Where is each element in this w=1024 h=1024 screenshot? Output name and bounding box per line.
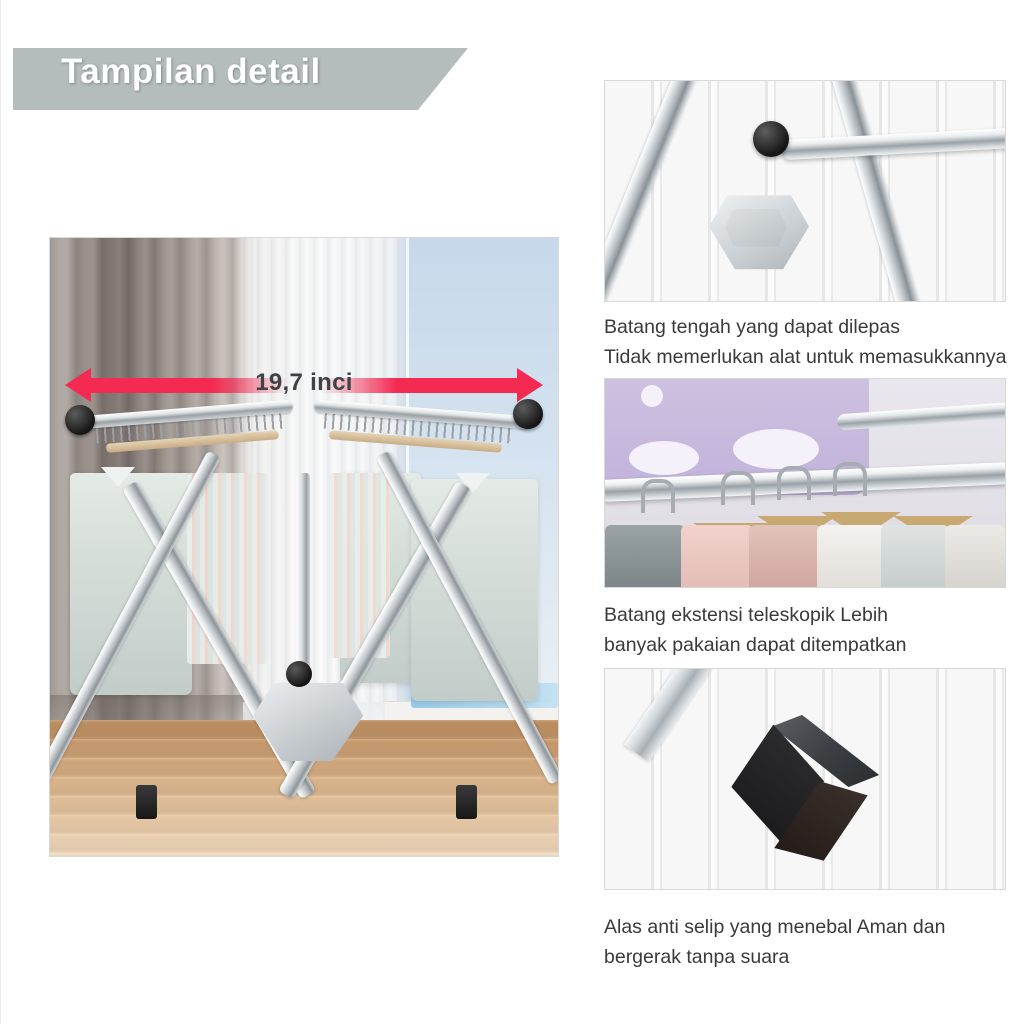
main-product-photo: 19,7 inci (49, 237, 559, 857)
joint-hub-inner (725, 209, 787, 247)
room-scene: 19,7 inci (50, 238, 558, 856)
page-title: Tampilan detail (61, 52, 321, 92)
garment-shirt-right (411, 479, 538, 701)
garment-stack-left (187, 473, 268, 665)
hanger-hook-icon (721, 471, 755, 505)
rail-end-cap-left (65, 405, 95, 435)
caption-telescopic-bar: Batang ekstensi teleskopik Lebih banyak … (604, 600, 1004, 660)
caption-line: Tidak memerlukan alat untuk memasukkanny… (604, 342, 1004, 372)
caption-line: Alas anti selip yang menebal Aman dan (604, 912, 1004, 942)
width-measurement-annotation: 19,7 inci (65, 365, 543, 405)
hanger-hook-icon (641, 479, 675, 513)
caption-line: bergerak tanpa suara (604, 942, 1004, 972)
cloud-pattern-icon (733, 429, 819, 469)
detail-photo-center-bar (604, 80, 1006, 302)
garment-pink (681, 525, 753, 587)
caption-line: Batang tengah yang dapat dilepas (604, 312, 1004, 342)
bar-end-cap-icon (753, 121, 789, 157)
hanger-hook-icon (833, 462, 867, 496)
rack-foot-left (136, 785, 157, 819)
rack-foot-right (456, 785, 477, 819)
measurement-label: 19,7 inci (65, 369, 543, 397)
caption-center-bar: Batang tengah yang dapat dilepas Tidak m… (604, 312, 1004, 372)
rack-center-hub-inner (274, 708, 344, 750)
caption-line: banyak pakaian dapat ditempatkan (604, 630, 1004, 660)
hanger-hook-icon (777, 466, 811, 500)
detail-photo-telescopic-bar (604, 378, 1006, 588)
garment-light-gray (881, 525, 949, 587)
detail-photo-anti-slip-foot (604, 668, 1006, 890)
product-detail-page: Tampilan detail (0, 0, 1024, 1024)
caption-line: Batang ekstensi teleskopik Lebih (604, 600, 1004, 630)
caption-anti-slip-foot: Alas anti selip yang menebal Aman dan be… (604, 912, 1004, 972)
garment-white (817, 525, 885, 587)
garment-rose (749, 525, 821, 587)
garment-cream (945, 525, 1005, 587)
garment-gray (605, 525, 685, 587)
